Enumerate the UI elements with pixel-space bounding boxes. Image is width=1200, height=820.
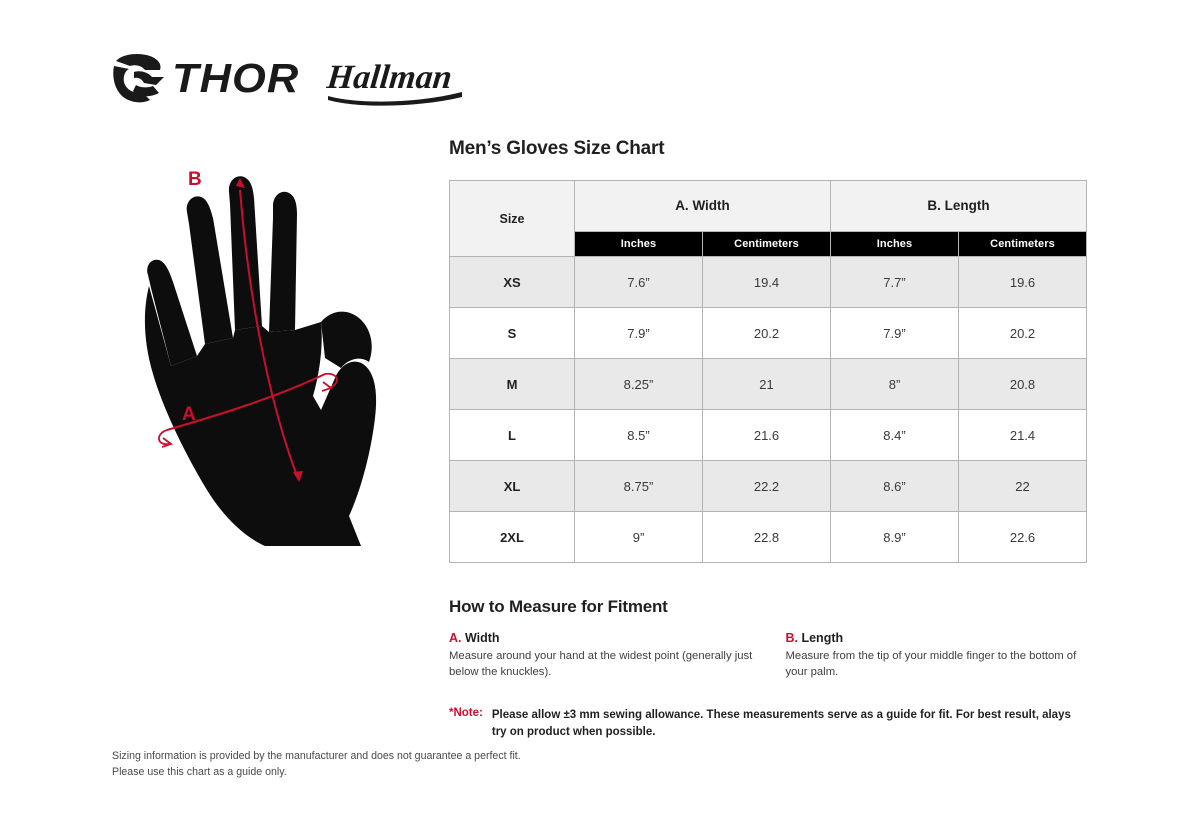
svg-text:Hallman: Hallman — [326, 59, 454, 96]
page-title: Men’s Gloves Size Chart — [449, 138, 1089, 160]
table-header: Size A. Width B. Length Inches Centimete… — [450, 181, 1087, 257]
measure-item-length: B. Length Measure from the tip of your m… — [786, 631, 1090, 680]
measure-name-a: Width — [462, 631, 500, 645]
measure-description-b: Measure from the tip of your middle fing… — [786, 648, 1090, 680]
column-header-length-inches: Inches — [831, 231, 959, 256]
cell-width-inches: 8.75” — [575, 461, 703, 512]
brand-logo-bar: THOR Hallman — [112, 50, 466, 106]
how-to-measure-title: How to Measure for Fitment — [449, 597, 1089, 617]
cell-width-centimeters: 21 — [703, 359, 831, 410]
measure-item-width: A. Width Measure around your hand at the… — [449, 631, 753, 680]
measure-name-b: Length — [798, 631, 843, 645]
column-group-header-length: B. Length — [831, 181, 1087, 232]
cell-size: S — [450, 308, 575, 359]
table-body: XS 7.6” 19.4 7.7” 19.6 S 7.9” 20.2 7.9” … — [450, 257, 1087, 563]
table-header-row-groups: Size A. Width B. Length — [450, 181, 1087, 232]
cell-length-centimeters: 21.4 — [959, 410, 1087, 461]
hand-measurement-diagram: A B — [125, 160, 425, 560]
size-chart-content: Men’s Gloves Size Chart Size A. Width B.… — [449, 138, 1089, 740]
cell-width-centimeters: 22.2 — [703, 461, 831, 512]
size-chart-table: Size A. Width B. Length Inches Centimete… — [449, 180, 1087, 563]
cell-length-inches: 8” — [831, 359, 959, 410]
cell-width-inches: 8.25” — [575, 359, 703, 410]
cell-width-inches: 7.6” — [575, 257, 703, 308]
column-header-size: Size — [450, 181, 575, 257]
column-header-width-centimeters: Centimeters — [703, 231, 831, 256]
note-row: *Note: Please allow ±3 mm sewing allowan… — [449, 707, 1089, 740]
note-label: *Note: — [449, 707, 483, 740]
cell-size: XL — [450, 461, 575, 512]
cell-length-centimeters: 22.6 — [959, 512, 1087, 563]
cell-size: L — [450, 410, 575, 461]
measure-item-heading: B. Length — [786, 631, 1090, 645]
cell-length-inches: 7.7” — [831, 257, 959, 308]
column-header-width-inches: Inches — [575, 231, 703, 256]
thor-helmet-icon — [112, 52, 170, 104]
hand-silhouette — [145, 176, 376, 546]
cell-length-centimeters: 22 — [959, 461, 1087, 512]
cell-width-centimeters: 20.2 — [703, 308, 831, 359]
cell-size: 2XL — [450, 512, 575, 563]
column-group-header-width: A. Width — [575, 181, 831, 232]
footer-disclaimer: Sizing information is provided by the ma… — [112, 748, 521, 781]
column-header-length-centimeters: Centimeters — [959, 231, 1087, 256]
cell-length-centimeters: 19.6 — [959, 257, 1087, 308]
cell-width-centimeters: 22.8 — [703, 512, 831, 563]
cell-width-inches: 7.9” — [575, 308, 703, 359]
table-row: XS 7.6” 19.4 7.7” 19.6 — [450, 257, 1087, 308]
cell-size: XS — [450, 257, 575, 308]
measure-description-a: Measure around your hand at the widest p… — [449, 648, 753, 680]
cell-width-inches: 8.5” — [575, 410, 703, 461]
cell-length-centimeters: 20.2 — [959, 308, 1087, 359]
hand-diagram-svg: A B — [125, 160, 425, 560]
cell-length-inches: 8.6” — [831, 461, 959, 512]
thor-wordmark: THOR — [172, 58, 299, 99]
cell-length-inches: 7.9” — [831, 308, 959, 359]
note-text: Please allow ±3 mm sewing allowance. The… — [492, 707, 1080, 740]
measure-letter-a: A. — [449, 631, 462, 645]
footer-line-1: Sizing information is provided by the ma… — [112, 748, 521, 764]
table-row: M 8.25” 21 8” 20.8 — [450, 359, 1087, 410]
cell-width-centimeters: 19.4 — [703, 257, 831, 308]
measure-item-heading: A. Width — [449, 631, 753, 645]
cell-length-centimeters: 20.8 — [959, 359, 1087, 410]
table-row: 2XL 9” 22.8 8.9” 22.6 — [450, 512, 1087, 563]
cell-width-centimeters: 21.6 — [703, 410, 831, 461]
hallman-logo: Hallman — [326, 50, 466, 106]
table-row: S 7.9” 20.2 7.9” 20.2 — [450, 308, 1087, 359]
thor-logo: THOR — [112, 52, 292, 104]
footer-line-2: Please use this chart as a guide only. — [112, 764, 521, 780]
how-to-measure-columns: A. Width Measure around your hand at the… — [449, 631, 1089, 680]
measure-letter-b: B. — [786, 631, 799, 645]
cell-size: M — [450, 359, 575, 410]
label-b: B — [188, 169, 202, 190]
table-row: XL 8.75” 22.2 8.6” 22 — [450, 461, 1087, 512]
cell-length-inches: 8.9” — [831, 512, 959, 563]
table-row: L 8.5” 21.6 8.4” 21.4 — [450, 410, 1087, 461]
cell-length-inches: 8.4” — [831, 410, 959, 461]
label-a: A — [182, 404, 196, 425]
cell-width-inches: 9” — [575, 512, 703, 563]
